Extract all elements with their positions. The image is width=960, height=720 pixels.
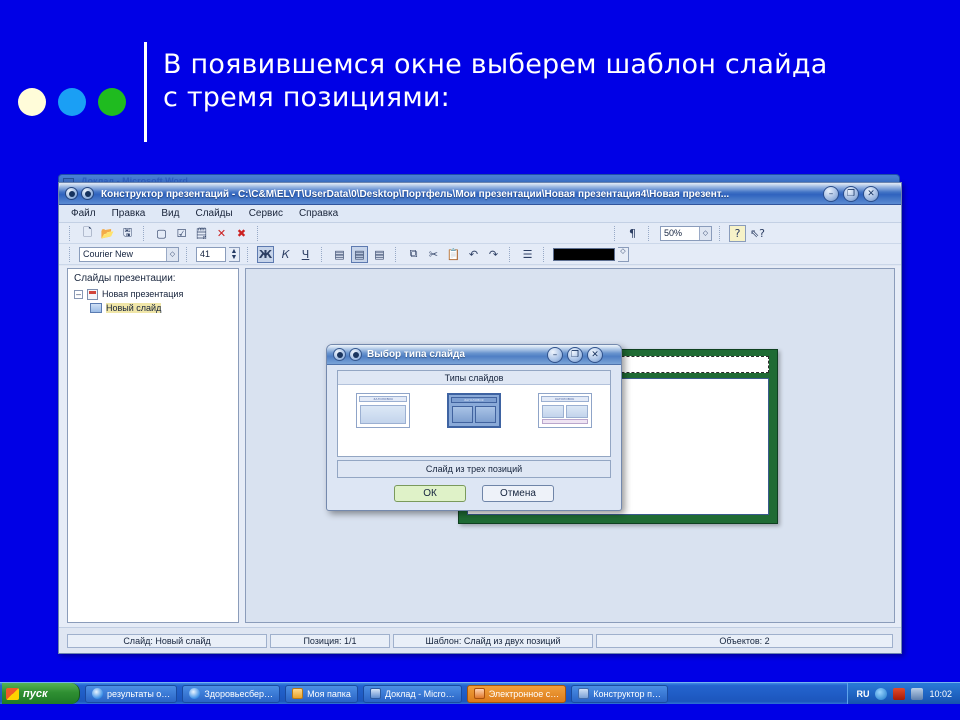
text-color-chevron-down-icon[interactable]: ◇ [618,247,629,262]
app-menu-dot [85,191,91,197]
status-objects: Объектов: 2 [596,634,893,648]
powerpoint-icon [474,688,485,699]
thumb3-body [542,405,588,418]
taskbar-item-moya-papka-label: Моя папка [307,689,351,699]
tray-network-icon[interactable] [911,688,923,700]
taskbar-item-moya-papka[interactable]: Моя папка [285,685,358,703]
format-grip-1[interactable] [69,247,72,262]
taskbar-item-zdorovesber-label: Здоровьесбер… [204,689,273,699]
font-size-stepper[interactable]: ▲▼ [229,247,240,262]
system-menu-icon[interactable] [65,187,78,200]
decorative-bullet-cream [18,88,46,116]
tree-root-label: Новая презентация [102,289,183,299]
system-menu-dot [69,191,75,197]
internet-explorer-icon [92,688,103,699]
constructor-app-icon [578,688,589,699]
system-tray: RU 10:02 [847,683,960,705]
app-window-title: Конструктор презентаций - C:\C&M\ELVT\Us… [101,187,791,203]
font-name-select[interactable]: Courier New ◇ [79,247,179,262]
italic-button[interactable]: К [277,246,294,263]
copy-icon[interactable]: ⧉ [405,246,422,263]
toolbar-grip-5[interactable] [648,226,651,241]
thumb2-body [452,406,496,423]
menu-item-file[interactable]: Файл [69,207,98,220]
delete-red-x-icon[interactable]: ✕ [213,225,230,242]
underline-button[interactable]: Ч [297,246,314,263]
slide-title-line-2: с тремя позициями: [163,81,923,114]
font-name-value: Courier New [83,249,133,259]
thumb2-header-label: ЗАГОЛОВОК [451,397,497,403]
slide-title: В появившемся окне выберем шаблон слайда… [163,48,923,114]
format-grip-4[interactable] [321,247,324,262]
align-right-icon[interactable]: ▤ [371,246,388,263]
dialog-system-menu-icon[interactable] [333,348,346,361]
thumb3-footer-pane [542,419,588,424]
dialog-close-button[interactable]: ✕ [587,347,603,363]
slide-header: В появившемся окне выберем шаблон слайда… [0,0,960,175]
menu-item-slides[interactable]: Слайды [193,207,234,220]
text-color-swatch[interactable] [553,248,615,261]
taskbar-item-zdorovesber[interactable]: Здоровьесбер… [182,685,280,703]
dialog-title: Выбор типа слайда [367,348,465,362]
dialog-app-dot [353,352,359,358]
format-grip-5[interactable] [395,247,398,262]
new-slide-icon[interactable]: ▢ [153,225,170,242]
internet-explorer-icon-2 [189,688,200,699]
dialog-system-dot [337,352,343,358]
cut-icon[interactable]: ✂ [425,246,442,263]
status-position: Позиция: 1/1 [270,634,390,648]
toolbar-standard: 🗋 📂 🖫 ▢ ☑ 🗒 ✕ ✖ ¶ 50% ◇ ? ⇖? [59,223,901,244]
taskbar-item-konstruktor-label: Конструктор п… [593,689,661,699]
menu-item-view[interactable]: Вид [159,207,181,220]
menu-item-help[interactable]: Справка [297,207,340,220]
zoom-select[interactable]: 50% ◇ [660,226,712,241]
windows-flag-icon [6,688,19,700]
slide-types-group-title: Типы слайдов [338,371,610,385]
delete-all-icon[interactable]: ✖ [233,225,250,242]
slide-title-line-1: В появившемся окне выберем шаблон слайда [163,48,923,81]
help-icon[interactable]: ? [729,225,746,242]
desktop-bottom-strip [0,704,960,720]
close-button[interactable]: ✕ [863,186,879,202]
taskbar-item-doklad[interactable]: Доклад - Micro… [363,685,462,703]
tree-slide-label: Новый слайд [106,303,161,313]
dialog-buttons: ОК Отмена [327,485,621,502]
taskbar-item-konstruktor[interactable]: Конструктор п… [571,685,668,703]
font-size-value: 41 [200,249,210,259]
taskbar-item-elektronnoe-label: Электронное с… [489,689,560,699]
align-left-icon[interactable]: ▤ [331,246,348,263]
toolbar-grip-1[interactable] [69,226,72,241]
decorative-bullet-green [98,88,126,116]
dialog-minimize-button[interactable]: – [547,347,563,363]
thumb2-pane-2 [475,406,496,423]
toolbar-grip-6[interactable] [719,226,722,241]
app-titlebar[interactable]: Конструктор презентаций - C:\C&M\ELVT\Us… [59,183,901,205]
thumb3-header-label: ЗАГОЛОВОК [541,396,589,402]
start-button[interactable]: пуск [2,683,80,704]
thumb3-pane-1 [542,405,564,418]
slide-type-three-positions[interactable]: ЗАГОЛОВОК [538,393,592,428]
zoom-value: 50% [664,228,682,238]
chevron-down-icon[interactable]: ◇ [699,227,711,240]
minimize-button[interactable]: – [823,186,839,202]
thumb1-header-label: ЗАГОЛОВОК [359,396,407,402]
folder-icon [292,688,303,699]
taskbar-item-elektronnoe[interactable]: Электронное с… [467,685,567,703]
toolbar-grip-3[interactable] [257,226,260,241]
menu-item-edit[interactable]: Правка [110,207,148,220]
toolbar-formatting: Courier New ◇ 41 ▲▼ Ж К Ч ▤ ▤ ▤ ⧉ ✂ 📋 ↶ … [59,244,901,265]
slide-properties-icon[interactable]: 🗒 [193,225,210,242]
thumb2-pane-1 [452,406,473,423]
format-grip-3[interactable] [247,247,250,262]
slide-type-one-position[interactable]: ЗАГОЛОВОК [356,393,410,428]
cancel-button[interactable]: Отмена [482,485,554,502]
slide-type-dialog: Выбор типа слайда – ❐ ✕ Типы слайдов ЗАГ… [326,344,622,511]
status-slide: Слайд: Новый слайд [67,634,267,648]
clock[interactable]: 10:02 [929,689,952,699]
thumb1-pane-1 [360,405,406,424]
slide-thumb-icon [90,303,102,313]
status-bar: Слайд: Новый слайд Позиция: 1/1 Шаблон: … [59,627,901,653]
dialog-maximize-button[interactable]: ❐ [567,347,583,363]
new-document-icon[interactable]: 🗋 [79,225,96,242]
paste-icon[interactable]: 📋 [445,246,462,263]
toolbar-grip-4[interactable] [614,226,617,241]
ok-button[interactable]: ОК [394,485,466,502]
toolbar-grip-2[interactable] [143,226,146,241]
format-grip-6[interactable] [509,247,512,262]
slide-types-group: Типы слайдов ЗАГОЛОВОК ЗАГОЛОВОК ЗАГОЛОВ… [337,370,611,457]
bullet-list-icon[interactable]: ☰ [519,246,536,263]
context-help-icon[interactable]: ⇖? [749,225,766,242]
edit-slide-icon[interactable]: ☑ [173,225,190,242]
slides-tree-panel: Слайды презентации: – Новая презентация … [67,268,239,623]
taskbar-item-rezultaty-label: результаты о… [107,689,170,699]
slides-tree-title: Слайды презентации: [68,269,238,287]
bold-button[interactable]: Ж [257,246,274,263]
redo-icon[interactable]: ↷ [485,246,502,263]
save-disk-icon[interactable]: 🖫 [119,225,136,242]
status-template: Шаблон: Слайд из двух позиций [393,634,593,648]
dialog-app-menu-icon[interactable] [349,348,362,361]
menu-item-service[interactable]: Сервис [247,207,285,220]
align-center-icon[interactable]: ▤ [351,246,368,263]
font-chevron-down-icon[interactable]: ◇ [166,248,178,261]
presentation-document-icon [87,289,98,300]
font-size-input[interactable]: 41 [196,247,226,262]
tray-volume-icon[interactable] [875,688,887,700]
menu-bar: Файл Правка Вид Слайды Сервис Справка [59,205,901,223]
dialog-titlebar[interactable]: Выбор типа слайда – ❐ ✕ [327,345,621,365]
start-label: пуск [23,688,48,700]
tree-collapse-icon[interactable]: – [74,290,83,299]
format-grip-7[interactable] [543,247,546,262]
format-grip-2[interactable] [186,247,189,262]
taskbar-item-rezultaty[interactable]: результаты о… [85,685,177,703]
slide-type-two-positions[interactable]: ЗАГОЛОВОК [447,393,501,428]
thumb1-body [360,405,406,424]
word-icon [370,688,381,699]
taskbar: пуск результаты о… Здоровьесбер… Моя пап… [0,682,960,704]
slide-type-thumbnails: ЗАГОЛОВОК ЗАГОЛОВОК ЗАГОЛОВОК [338,385,610,428]
maximize-button[interactable]: ❐ [843,186,859,202]
undo-icon[interactable]: ↶ [465,246,482,263]
slide-type-caption: Слайд из трех позиций [337,460,611,478]
open-folder-icon[interactable]: 📂 [99,225,116,242]
tray-antivirus-icon[interactable] [893,688,905,700]
thumb3-pane-2 [566,405,588,418]
app-menu-icon[interactable] [81,187,94,200]
taskbar-item-doklad-label: Доклад - Micro… [385,689,455,699]
paragraph-marks-icon[interactable]: ¶ [624,225,641,242]
header-divider [144,42,147,142]
tree-row-slide[interactable]: Новый слайд [68,301,238,315]
decorative-bullet-blue [58,88,86,116]
tree-row-root[interactable]: – Новая презентация [68,287,238,301]
language-indicator[interactable]: RU [856,689,869,699]
